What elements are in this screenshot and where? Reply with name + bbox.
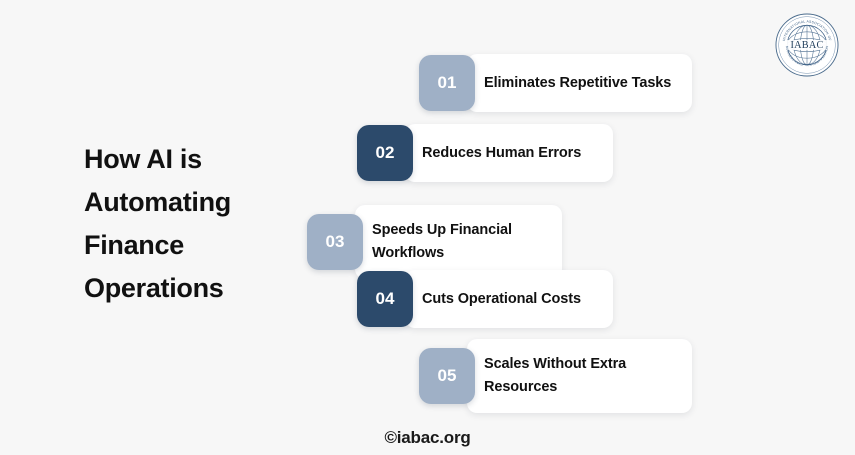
footer: ©iabac.org [0,428,855,448]
step-row[interactable]: 03 Speeds Up Financial Workflows [307,205,562,279]
step-card: Speeds Up Financial Workflows [355,205,562,279]
step-card: Cuts Operational Costs [405,270,613,328]
step-card: Eliminates Repetitive Tasks [467,54,692,112]
step-row[interactable]: 04 Cuts Operational Costs [357,270,613,328]
step-card: Reduces Human Errors [405,124,613,182]
logo-center-text: IABAC [790,40,823,51]
step-number-badge: 03 [307,214,363,270]
step-label: Eliminates Repetitive Tasks [484,72,671,95]
step-number-badge: 01 [419,55,475,111]
step-row[interactable]: 01 Eliminates Repetitive Tasks [419,54,692,112]
iabac-logo-icon: IABAC INTERNATIONAL ASSOCIATION OF BUSIN… [774,12,840,78]
step-row[interactable]: 05 Scales Without Extra Resources [419,339,692,413]
step-label: Scales Without Extra Resources [484,353,674,399]
step-label: Speeds Up Financial Workflows [372,219,544,265]
step-number-badge: 05 [419,348,475,404]
step-number-badge: 02 [357,125,413,181]
steps-list: 01 Eliminates Repetitive Tasks 02 Reduce… [0,0,855,455]
footer-copyright: ©iabac.org [384,428,470,447]
step-row[interactable]: 02 Reduces Human Errors [357,124,613,182]
step-number-badge: 04 [357,271,413,327]
step-card: Scales Without Extra Resources [467,339,692,413]
step-label: Cuts Operational Costs [422,288,581,311]
infographic-canvas: How AI is Automating Finance Operations … [0,0,855,455]
step-label: Reduces Human Errors [422,142,581,165]
